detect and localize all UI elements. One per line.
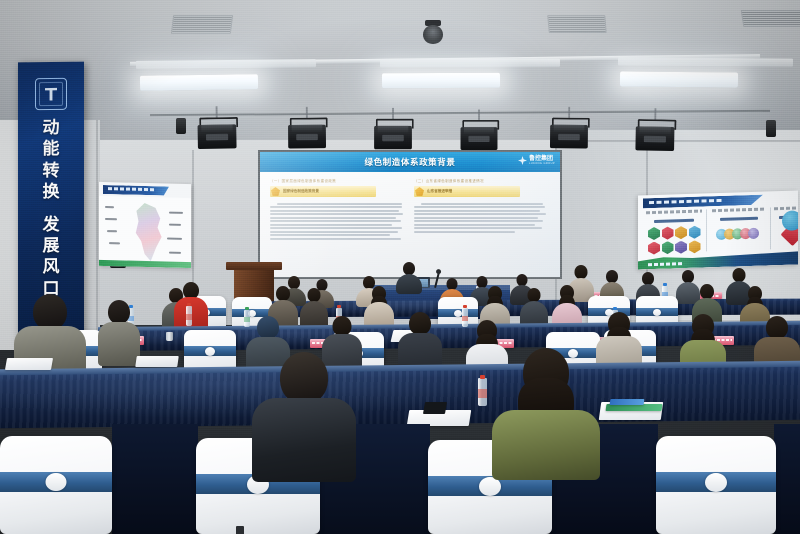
floor-aisle: [112, 424, 198, 534]
wall-seam: [192, 150, 194, 300]
notebook-insert: [606, 404, 663, 411]
air-vent: [741, 10, 800, 27]
hex-icon-group: [648, 225, 704, 254]
water-bottle: [186, 306, 192, 326]
slide-title: 绿色制造体系政策背景: [260, 156, 560, 168]
stage-light: [461, 120, 498, 150]
hex-icon: [648, 227, 660, 240]
banner-char: 动: [43, 118, 60, 138]
banner-text: 动 能 转 换 发 展 风 口 产: [18, 118, 84, 320]
water-bottle: [478, 378, 487, 406]
hex-icon: [689, 226, 701, 239]
slide-ribbon-heading: 山东省推进举措: [414, 186, 520, 197]
stage-light: [374, 119, 412, 150]
notebook-insert: [610, 399, 645, 405]
ceiling-light-panel: [382, 73, 500, 88]
presenter: [396, 262, 422, 292]
dome-camera-icon: [422, 20, 444, 46]
infographic-poster: [638, 190, 798, 269]
infographic-header: [643, 195, 763, 209]
paper-cup: [166, 332, 173, 341]
stage-light: [197, 117, 236, 149]
banner-char: 发: [43, 214, 60, 234]
banner-char: 展: [43, 236, 60, 256]
air-vent: [171, 15, 233, 34]
slide-ribbon-heading: 国家绿色制造政策背景: [270, 186, 376, 197]
slide-logo-subtext: LUKONG GROUP: [529, 162, 555, 165]
ceiling-light-panel: [140, 74, 258, 91]
four-point-star-icon: [518, 156, 527, 165]
stage-light: [635, 119, 674, 151]
circle-icon: [782, 210, 798, 231]
infographic-column: [712, 207, 766, 252]
ceiling-light-panel: [620, 71, 738, 87]
audience-chair: [656, 436, 776, 534]
region-map-shape: [131, 203, 165, 262]
audience-chair: [0, 436, 112, 534]
slide-paragraph: [270, 203, 406, 240]
circle-icon-group: [716, 228, 759, 240]
slide: 绿色制造体系政策背景 鲁控集团 LUKONG GROUP （一）国家层面绿色制造…: [260, 152, 560, 277]
stage-light: [288, 118, 326, 149]
wall-speaker: [766, 120, 776, 137]
slide-column: （二）山东省绿色制造体系建设推进情况 山东省推进举措: [414, 178, 550, 277]
slide-logo: 鲁控集团 LUKONG GROUP: [518, 156, 555, 165]
audience-member: [492, 348, 600, 472]
banner-char: 风: [43, 257, 60, 277]
notebook: [135, 356, 179, 367]
map-poster: [99, 182, 191, 268]
floor-aisle: [774, 424, 800, 534]
light-housing: [618, 57, 793, 66]
banner-char: 换: [43, 182, 60, 202]
slide-title-bar: 绿色制造体系政策背景 鲁控集团 LUKONG GROUP: [260, 152, 560, 172]
banner-char: 转: [43, 161, 60, 181]
hex-icon: [662, 226, 674, 239]
conference-room-photo: 动 能 转 换 发 展 风 口 产: [0, 0, 800, 534]
audience-member: [364, 286, 394, 330]
hex-icon: [648, 241, 660, 254]
circle-icon: [748, 228, 759, 239]
slide-column-kicker: （一）国家层面绿色制造体系建设政策: [270, 178, 406, 183]
slide-ribbon-label: 山东省推进举措: [427, 189, 452, 194]
hex-icon: [662, 241, 674, 254]
slide-column-kicker: （二）山东省绿色制造体系建设推进情况: [414, 178, 550, 183]
notebook: [5, 358, 53, 370]
hex-icon: [675, 240, 687, 253]
hex-icon: [689, 240, 701, 253]
stage-light: [550, 118, 588, 149]
wall-speaker: [176, 118, 186, 134]
banner-char: 能: [43, 139, 60, 159]
wall-seam: [556, 140, 800, 142]
audience-member: [98, 300, 140, 362]
slide-ribbon-label: 国家绿色制造政策背景: [283, 189, 319, 194]
building-emblem-icon: [35, 78, 67, 110]
slide-paragraph: [414, 203, 550, 233]
light-housing: [380, 59, 560, 68]
projection-screen: 绿色制造体系政策背景 鲁控集团 LUKONG GROUP （一）国家层面绿色制造…: [258, 150, 562, 279]
hex-icon: [675, 226, 687, 239]
map-poster-header: [103, 185, 169, 196]
infographic-column: [646, 210, 702, 255]
audience-member: [252, 352, 356, 472]
slide-column: （一）国家层面绿色制造体系建设政策 国家绿色制造政策背景: [270, 178, 406, 277]
map-poster-body: [99, 196, 191, 262]
air-vent: [547, 15, 607, 33]
smartphone: [423, 402, 447, 414]
